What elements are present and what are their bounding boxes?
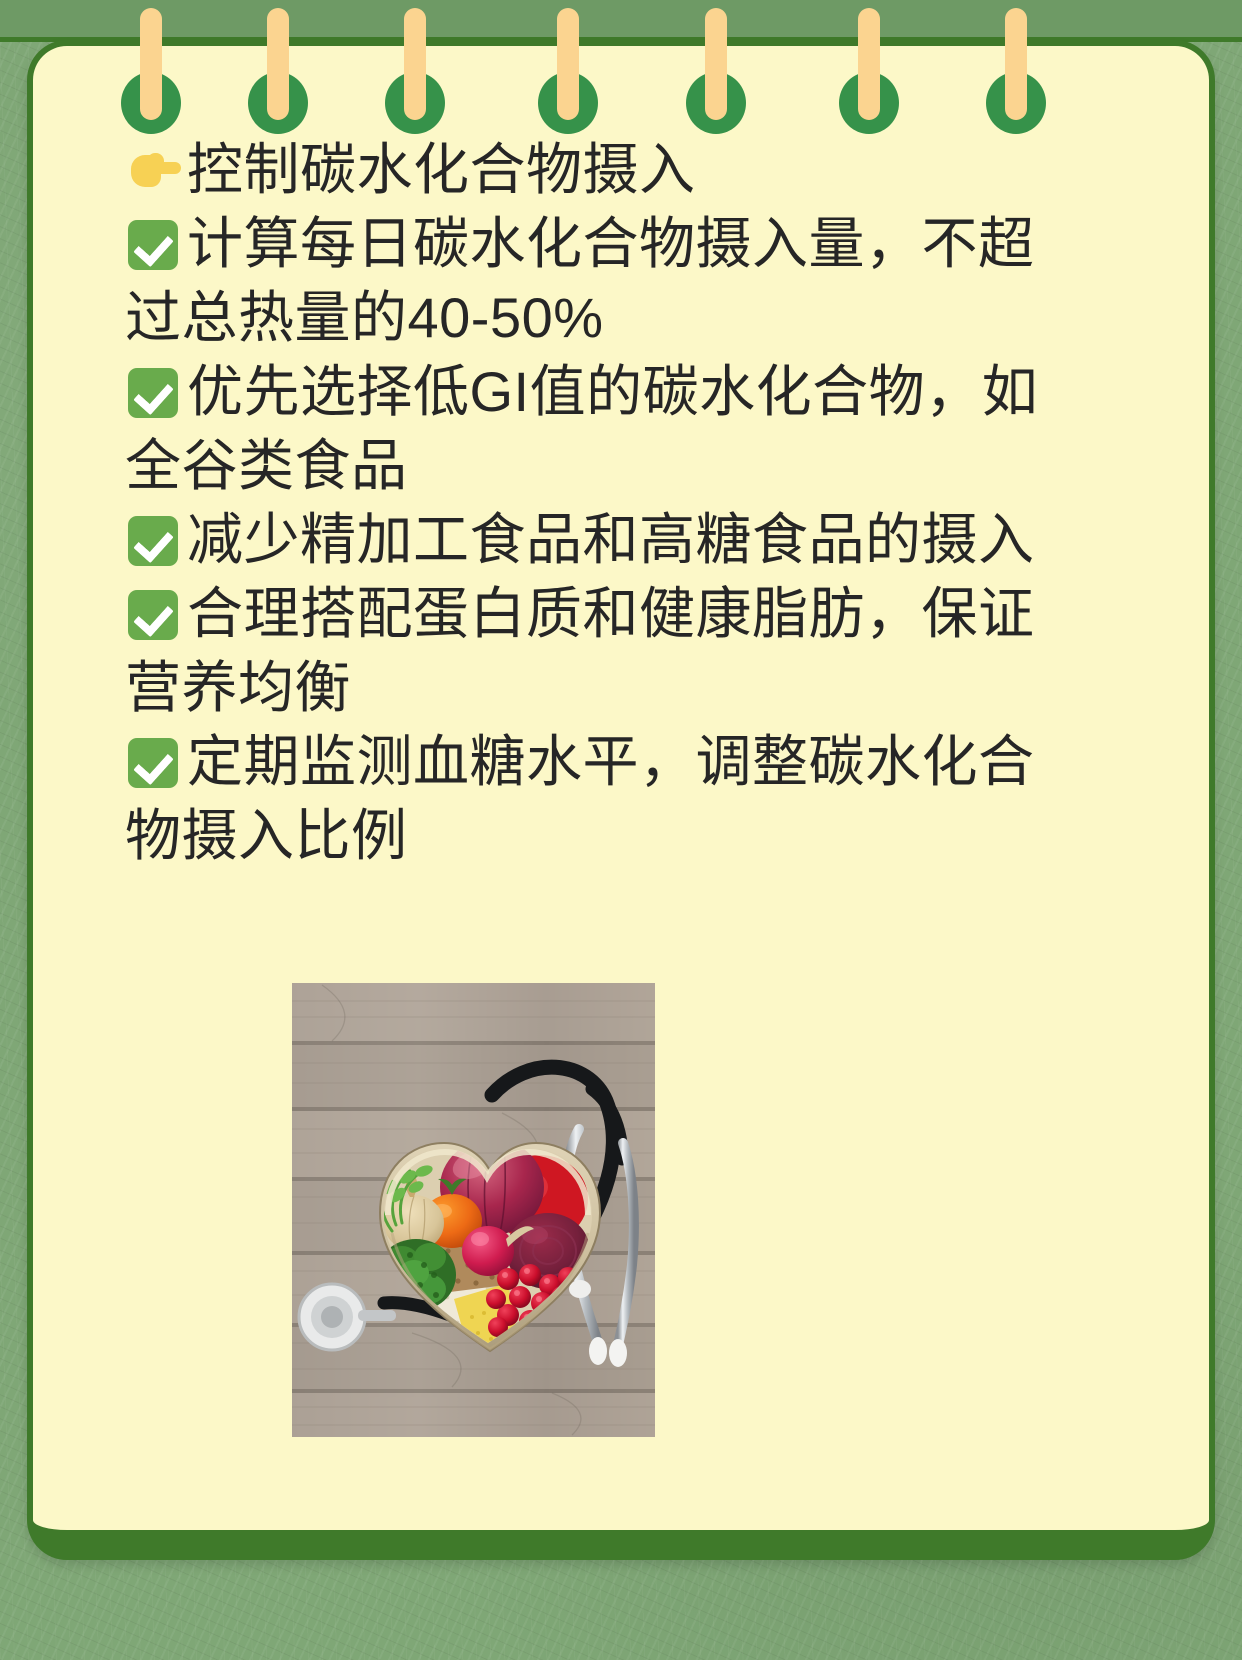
spiral-post-icon [267,8,289,120]
spiral-binding-4 [527,0,597,135]
note-line-text: 计算每日碳水化合物摄入量，不超过总热量的40-50% [125,212,1035,349]
note-line-text: 减少精加工食品和高糖食品的摄入 [187,508,1035,571]
note-text-block: 控制碳水化合物摄入 计算每日碳水化合物摄入量，不超过总热量的40-50% 优先选… [125,133,1080,873]
note-line-text: 控制碳水化合物摄入 [187,138,696,201]
note-line-item-1: 计算每日碳水化合物摄入量，不超过总热量的40-50% [125,207,1080,355]
check-mark-icon [125,583,185,643]
spiral-binding-5 [675,0,745,135]
spiral-post-icon [858,8,880,120]
spiral-post-icon [404,8,426,120]
spiral-binding-6 [828,0,898,135]
spiral-binding-2 [237,0,307,135]
note-line-heading: 控制碳水化合物摄入 [125,133,1080,207]
note-line-item-2: 优先选择低GI值的碳水化合物，如全谷类食品 [125,355,1080,503]
check-mark-icon [125,213,185,273]
spiral-post-icon [140,8,162,120]
note-line-text: 优先选择低GI值的碳水化合物，如全谷类食品 [125,360,1038,497]
note-line-text: 定期监测血糖水平，调整碳水化合物摄入比例 [125,730,1035,867]
spiral-post-icon [705,8,727,120]
note-line-item-5: 定期监测血糖水平，调整碳水化合物摄入比例 [125,725,1080,873]
note-line-text: 合理搭配蛋白质和健康脂肪，保证营养均衡 [125,582,1035,719]
spiral-post-icon [1005,8,1027,120]
note-line-item-3: 减少精加工食品和高糖食品的摄入 [125,503,1080,577]
spiral-binding-1 [110,0,180,135]
top-green-band [0,0,1242,42]
pointing-right-hand-icon [125,139,185,199]
health-food-photo [292,983,655,1437]
spiral-binding-7 [975,0,1045,135]
poster-canvas: 控制碳水化合物摄入 计算每日碳水化合物摄入量，不超过总热量的40-50% 优先选… [0,0,1242,1660]
spiral-post-icon [557,8,579,120]
spiral-binding-3 [374,0,444,135]
check-mark-icon [125,731,185,791]
check-mark-icon [125,361,185,421]
check-mark-icon [125,509,185,569]
note-line-item-4: 合理搭配蛋白质和健康脂肪，保证营养均衡 [125,577,1080,725]
